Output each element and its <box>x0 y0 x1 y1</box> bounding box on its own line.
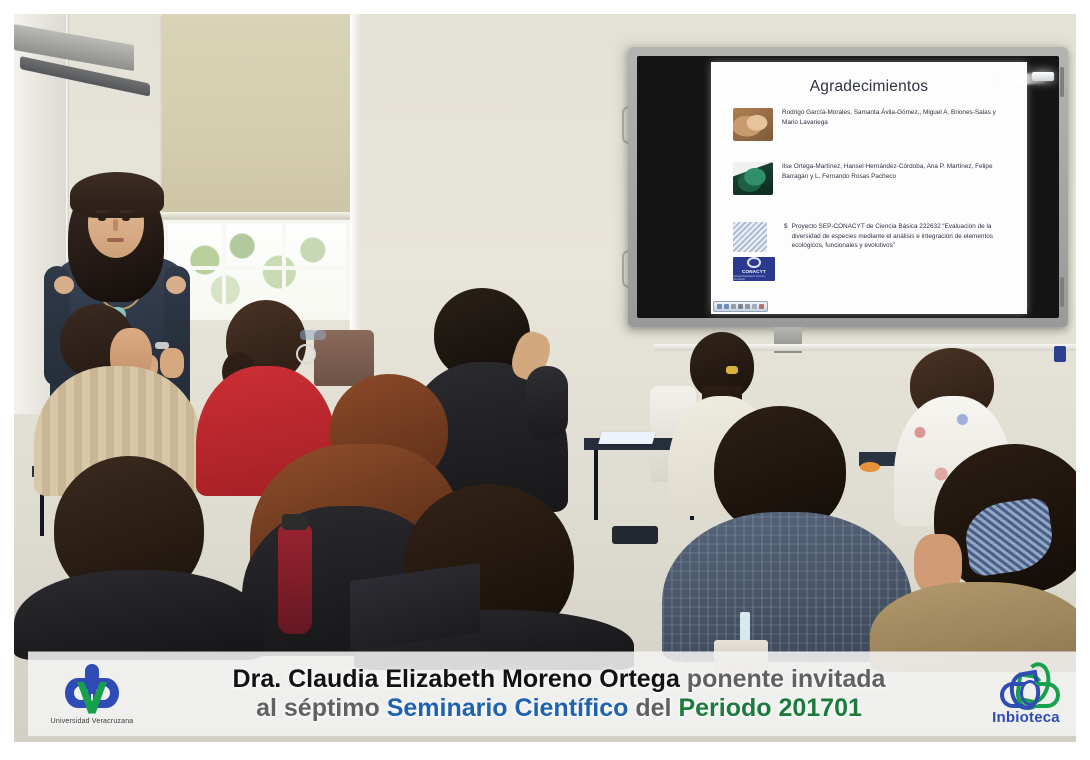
speaker-hair-front <box>70 172 164 218</box>
home-icon[interactable] <box>731 304 736 309</box>
inbioteca-left-arm <box>1000 682 1026 708</box>
beetle-photo-thumbnail-icon <box>733 162 773 195</box>
conacyt-logo-name: CONACYT <box>742 269 766 274</box>
hoop-earring-icon <box>296 344 316 364</box>
audience-arm <box>526 366 568 440</box>
smartboard-speaker <box>1060 277 1064 307</box>
speaker-nose <box>113 219 118 231</box>
desk-leg <box>594 450 598 520</box>
slide-title: Agradecimientos <box>711 78 1027 96</box>
caption-event-name: Seminario Científico <box>387 694 629 722</box>
slide-acknowledgement-block-2: Ilse Ortega-Martínez, Hansel Hernández-C… <box>733 162 1010 195</box>
audience-torso <box>14 570 264 660</box>
slide-acknowledgement-block-1: Rodrigo García-Morales, Samanta Ávila-Gó… <box>733 108 1010 141</box>
smartboard-screen[interactable]: Agradecimientos Rodrigo García-Morales, … <box>637 56 1059 318</box>
slide-block-1-text: Rodrigo García-Morales, Samanta Ávila-Gó… <box>782 108 1010 127</box>
speaker-wristwatch <box>155 342 169 349</box>
smartboard-speaker <box>1060 67 1064 97</box>
caption-prefix: al séptimo <box>256 694 387 722</box>
inbioteca-flame-icon <box>998 662 1054 708</box>
slide-money-symbol: $ <box>784 222 788 251</box>
previous-slide-icon[interactable] <box>717 304 722 309</box>
conacyt-ring-icon <box>747 257 761 268</box>
interactive-whiteboard[interactable]: Agradecimientos Rodrigo García-Morales, … <box>628 47 1068 327</box>
wall-lamp <box>1032 72 1054 81</box>
wall-strip <box>350 14 360 344</box>
hair-tie <box>726 366 738 374</box>
sep-logo-icon <box>733 222 767 252</box>
slide-block-2-text: Ilse Ortega-Martínez, Hansel Hernández-C… <box>782 162 1010 181</box>
roller-blind <box>162 14 354 217</box>
presentation-slide: Agradecimientos Rodrigo García-Morales, … <box>711 62 1027 314</box>
caption-period: Periodo 201701 <box>678 694 861 722</box>
water-bottle-cap <box>282 514 308 530</box>
eyeglasses-icon <box>300 330 326 340</box>
inbioteca-right-arm <box>1034 682 1060 708</box>
caption-role: ponente invitada <box>680 665 886 693</box>
speaker-eyebrow <box>120 210 133 213</box>
paper-on-desk <box>598 432 655 444</box>
uv-fleur-de-lis-icon <box>61 664 123 716</box>
speaker-eye <box>122 217 130 221</box>
poster-page: Agradecimientos Rodrigo García-Morales, … <box>0 0 1090 760</box>
conacyt-logo-tagline: Consejo Nacional de Ciencia y Tecnología <box>733 275 775 281</box>
eraser-icon[interactable] <box>752 304 757 309</box>
wall-rail-clip <box>1054 346 1066 362</box>
conacyt-logo-icon: CONACYT Consejo Nacional de Ciencia y Te… <box>733 257 775 281</box>
slide-block-3-text: Proyecto SEP-CONACYT de Ciencia Básica 2… <box>792 222 1020 251</box>
inbioteca-logo-label: Inbioteca <box>992 709 1060 726</box>
pen-icon[interactable] <box>738 304 743 309</box>
caption-line-2: al séptimo Seminario Científico del Peri… <box>156 694 962 722</box>
water-bottle <box>278 524 312 634</box>
screen-icon[interactable] <box>745 304 750 309</box>
bat-photo-thumbnail-icon <box>733 108 773 141</box>
event-photograph: Agradecimientos Rodrigo García-Morales, … <box>14 14 1076 742</box>
inbioteca-logo: Inbioteca <box>962 662 1076 726</box>
speaker-hand <box>160 348 184 378</box>
orange-object <box>860 462 880 472</box>
speaker-eye <box>98 217 106 221</box>
close-icon[interactable] <box>759 304 764 309</box>
roller-blind-bar <box>160 212 356 219</box>
speaker-eyebrow <box>96 210 109 213</box>
presentation-toolbar[interactable] <box>713 301 768 312</box>
caption-bar: Universidad Veracruzana Dra. Claudia Eli… <box>28 652 1076 736</box>
speaker-shoulder-cutout <box>166 276 186 294</box>
uv-logo-label: Universidad Veracruzana <box>51 718 134 725</box>
caption-line-1: Dra. Claudia Elizabeth Moreno Ortega pon… <box>156 665 962 693</box>
caption-speaker-name: Dra. Claudia Elizabeth Moreno Ortega <box>233 665 680 693</box>
speaker-shoulder-cutout <box>54 276 74 294</box>
photo-frame: Agradecimientos Rodrigo García-Morales, … <box>14 14 1076 742</box>
slide-acknowledgement-block-3: CONACYT Consejo Nacional de Ciencia y Te… <box>733 222 1020 281</box>
device-on-desk <box>612 526 658 544</box>
caption-text: Dra. Claudia Elizabeth Moreno Ortega pon… <box>156 665 962 724</box>
speaker-mouth <box>107 238 124 242</box>
next-slide-icon[interactable] <box>724 304 729 309</box>
caption-connector: del <box>628 694 678 722</box>
universidad-veracruzana-logo: Universidad Veracruzana <box>28 664 156 725</box>
